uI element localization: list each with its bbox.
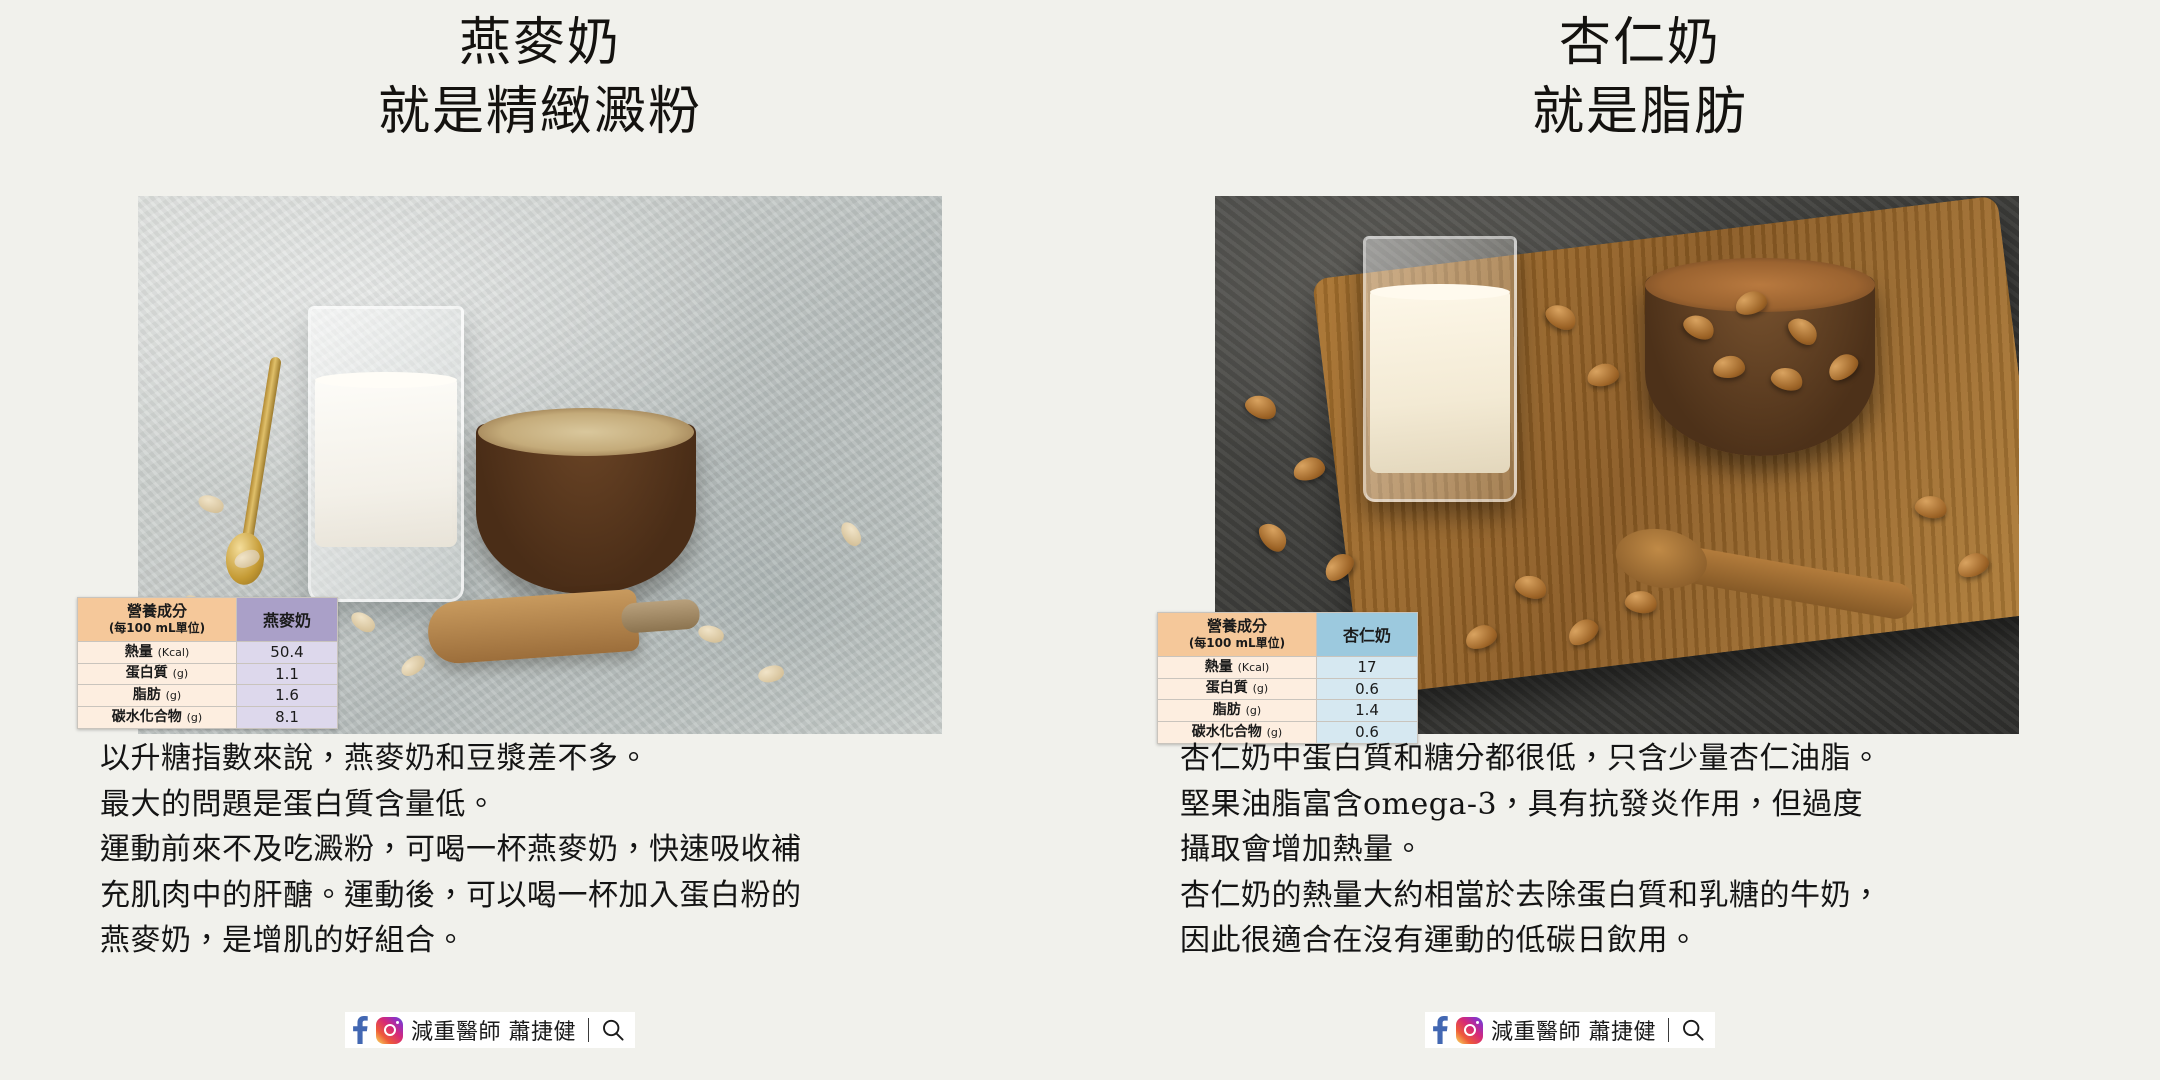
body-line: 杏仁奶中蛋白質和糖分都很低，只含少量杏仁油脂。	[1180, 736, 2090, 782]
row-unit-text: (g)	[166, 689, 182, 702]
oat-milk-glass	[308, 306, 464, 602]
row-value-calories: 50.4	[237, 641, 338, 663]
body-line: 因此很適合在沒有運動的低碳日飲用。	[1180, 918, 2090, 964]
instagram-icon[interactable]	[1456, 1017, 1483, 1044]
oat-bowl	[476, 424, 696, 594]
row-label-text: 蛋白質	[1206, 680, 1248, 696]
row-unit-text: (Kcal)	[1238, 661, 1270, 674]
body-line: 最大的問題是蛋白質含量低。	[100, 782, 1000, 828]
table-header-row: 營養成分 (每100 mL單位) 杏仁奶	[1158, 613, 1418, 657]
table-row: 熱量 (Kcal) 17	[1158, 656, 1418, 678]
handle-name: 減重醫師 蕭捷健	[411, 1014, 576, 1046]
nutrition-header-title: 營養成分	[1207, 617, 1267, 635]
row-label-text: 脂肪	[1213, 702, 1241, 718]
row-label-protein: 蛋白質 (g)	[78, 663, 237, 685]
oat-title-line-1: 燕麥奶	[0, 14, 1080, 73]
row-label-fat: 脂肪 (g)	[78, 685, 237, 707]
almond-nutrition-table: 營養成分 (每100 mL單位) 杏仁奶 熱量 (Kcal) 17 蛋白質 (g…	[1157, 612, 1418, 744]
row-label-calories: 熱量 (Kcal)	[1158, 656, 1317, 678]
table-header-row: 營養成分 (每100 mL單位) 燕麥奶	[78, 598, 338, 642]
almond-milk-column: 杏仁奶 就是脂肪	[1080, 0, 2160, 1080]
body-line: 運動前來不及吃澱粉，可喝一杯燕麥奶，快速吸收補	[100, 827, 1000, 873]
row-value-fat: 1.6	[237, 685, 338, 707]
row-value-carbs: 8.1	[237, 707, 338, 729]
row-unit-text: (g)	[1253, 682, 1269, 695]
nutrition-header-units: (每100 mL單位)	[84, 621, 230, 636]
handle-name: 減重醫師 蕭捷健	[1491, 1014, 1656, 1046]
body-line: 以升糖指數來說，燕麥奶和豆漿差不多。	[100, 736, 1000, 782]
row-value-protein: 1.1	[237, 663, 338, 685]
nutrition-header-units: (每100 mL單位)	[1164, 636, 1310, 651]
nutrition-header-label: 營養成分 (每100 mL單位)	[78, 598, 237, 642]
search-icon[interactable]	[1681, 1018, 1705, 1042]
row-label-text: 熱量	[125, 644, 153, 660]
nutrition-header-label: 營養成分 (每100 mL單位)	[1158, 613, 1317, 657]
table-row: 脂肪 (g) 1.6	[78, 685, 338, 707]
row-unit-text: (g)	[187, 711, 203, 724]
body-line: 攝取會增加熱量。	[1180, 827, 2090, 873]
body-line: 燕麥奶，是增肌的好組合。	[100, 918, 1000, 964]
facebook-icon[interactable]	[1431, 1016, 1448, 1044]
oat-title-line-2: 就是精緻澱粉	[0, 83, 1080, 142]
row-label-text: 脂肪	[133, 687, 161, 703]
handle-divider	[588, 1018, 589, 1042]
row-unit-text: (g)	[173, 667, 189, 680]
almond-social-handle-badge[interactable]: 減重醫師 蕭捷健	[1425, 1012, 1715, 1048]
nutrition-header-title: 營養成分	[127, 602, 187, 620]
facebook-icon[interactable]	[351, 1016, 368, 1044]
row-label-fat: 脂肪 (g)	[1158, 700, 1317, 722]
table-row: 蛋白質 (g) 0.6	[1158, 678, 1418, 700]
almond-title-block: 杏仁奶 就是脂肪	[1100, 14, 2160, 143]
almond-milk-glass	[1363, 236, 1517, 502]
instagram-icon[interactable]	[376, 1017, 403, 1044]
body-line: 堅果油脂富含omega-3，具有抗發炎作用，但過度	[1180, 782, 2090, 828]
row-label-text: 碳水化合物	[112, 709, 182, 725]
body-line: 充肌肉中的肝醣。運動後，可以喝一杯加入蛋白粉的	[100, 873, 1000, 919]
oat-nutrition-table: 營養成分 (每100 mL單位) 燕麥奶 熱量 (Kcal) 50.4 蛋白質 …	[77, 597, 338, 729]
row-value-fat: 1.4	[1317, 700, 1418, 722]
oat-social-handle-badge[interactable]: 減重醫師 蕭捷健	[345, 1012, 635, 1048]
row-unit-text: (Kcal)	[158, 646, 190, 659]
handle-divider	[1668, 1018, 1669, 1042]
table-row: 熱量 (Kcal) 50.4	[78, 641, 338, 663]
oat-title-block: 燕麥奶 就是精緻澱粉	[0, 14, 1080, 143]
row-label-text: 熱量	[1205, 659, 1233, 675]
table-row: 碳水化合物 (g) 8.1	[78, 707, 338, 729]
comparison-slide: 燕麥奶 就是精緻澱粉	[0, 0, 2160, 1080]
oat-body-copy: 以升糖指數來說，燕麥奶和豆漿差不多。 最大的問題是蛋白質含量低。 運動前來不及吃…	[100, 736, 1000, 964]
almond-body-copy: 杏仁奶中蛋白質和糖分都很低，只含少量杏仁油脂。 堅果油脂富含omega-3，具有…	[1180, 736, 2090, 964]
row-label-text: 蛋白質	[126, 665, 168, 681]
row-value-protein: 0.6	[1317, 678, 1418, 700]
table-row: 脂肪 (g) 1.4	[1158, 700, 1418, 722]
row-label-carbs: 碳水化合物 (g)	[78, 707, 237, 729]
row-value-calories: 17	[1317, 656, 1418, 678]
nutrition-header-value: 杏仁奶	[1317, 613, 1418, 657]
search-icon[interactable]	[601, 1018, 625, 1042]
almond-title-line-1: 杏仁奶	[1100, 14, 2160, 73]
nutrition-header-value: 燕麥奶	[237, 598, 338, 642]
row-label-protein: 蛋白質 (g)	[1158, 678, 1317, 700]
row-label-calories: 熱量 (Kcal)	[78, 641, 237, 663]
body-line: 杏仁奶的熱量大約相當於去除蛋白質和乳糖的牛奶，	[1180, 873, 2090, 919]
almond-title-line-2: 就是脂肪	[1100, 83, 2160, 142]
row-unit-text: (g)	[1246, 704, 1262, 717]
oat-milk-column: 燕麥奶 就是精緻澱粉	[0, 0, 1080, 1080]
table-row: 蛋白質 (g) 1.1	[78, 663, 338, 685]
